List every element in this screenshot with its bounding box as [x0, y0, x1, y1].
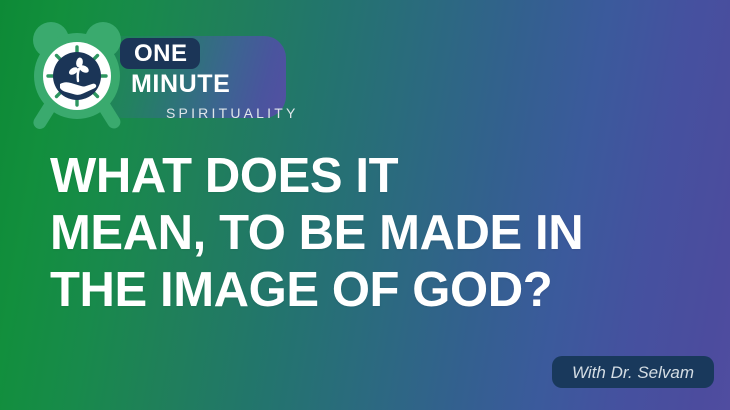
brand-logo-lockup: ONE MINUTE SPIRITUALITY	[18, 14, 278, 132]
presenter-badge: With Dr. Selvam	[552, 356, 714, 388]
headline-line-3: THE IMAGE OF GOD?	[50, 262, 670, 319]
brand-word-spirituality: SPIRITUALITY	[166, 106, 299, 120]
brand-word-minute: MINUTE	[131, 72, 230, 97]
presenter-badge-label: With Dr. Selvam	[572, 364, 694, 381]
headline-line-2: MEAN, TO BE MADE IN	[50, 205, 670, 262]
alarm-clock-sprout-icon	[18, 14, 136, 132]
brand-word-one: ONE	[120, 38, 200, 69]
video-thumbnail: ONE MINUTE SPIRITUALITY WHAT DOES IT MEA…	[0, 0, 730, 410]
headline: WHAT DOES IT MEAN, TO BE MADE IN THE IMA…	[50, 148, 670, 318]
brand-word-one-label: ONE	[134, 42, 188, 66]
headline-line-1: WHAT DOES IT	[50, 148, 670, 205]
